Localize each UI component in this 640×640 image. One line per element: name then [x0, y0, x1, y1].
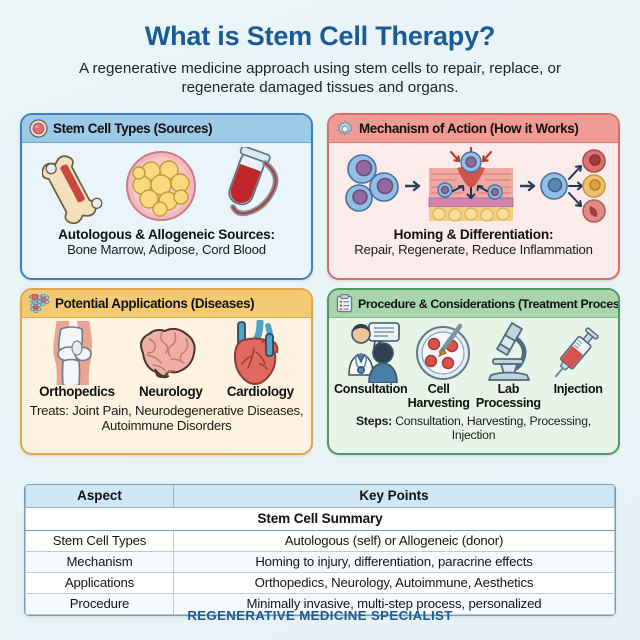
caption-strong-stem-cell-types: Autologous & Allogeneic Sources:: [58, 227, 275, 242]
caption-sub-mechanism: Repair, Regenerate, Reduce Inflammation: [354, 242, 593, 257]
panel-body-mechanism-of-action: Homing & Differentiation: Repair, Regene…: [329, 143, 618, 278]
panel-header-mechanism-of-action: Mechanism of Action (How it Works): [329, 115, 618, 143]
panel-title-stem-cell-types: Stem Cell Types (Sources): [53, 121, 212, 136]
arrow-right-icon-2: [520, 179, 537, 193]
table-body: Stem Cell Types Autologous (self) or All…: [26, 531, 615, 615]
brain-icon: [129, 323, 201, 383]
art-mechanism-of-action: [334, 145, 613, 227]
table-col-key-points: Key Points: [174, 485, 615, 508]
panel-header-stem-cell-types: Stem Cell Types (Sources): [22, 115, 311, 143]
table-title: Stem Cell Summary: [26, 508, 615, 531]
table-title-row: Stem Cell Summary: [26, 508, 615, 531]
panel-title-procedure-considerations: Procedure & Considerations (Treatment Pr…: [358, 297, 620, 311]
heart-icon: [226, 320, 288, 386]
bone-icon: [42, 148, 106, 224]
label-injection: Injection: [543, 383, 613, 397]
label-consultation: Consultation: [334, 383, 404, 397]
label-neurology: Neurology: [139, 385, 203, 400]
labels-procedure: Consultation Cell Harvesting Lab Process…: [334, 383, 613, 411]
caption-sub-applications: Treats: Joint Pain, Neurodegenerative Di…: [27, 403, 306, 434]
petri-dish-icon: [414, 322, 474, 382]
caption-sub-stem-cell-types: Bone Marrow, Adipose, Cord Blood: [67, 242, 266, 257]
cell-cluster-icon: [124, 149, 198, 223]
panel-header-potential-applications: Potential Applications (Diseases): [22, 290, 311, 318]
panel-procedure-considerations: Procedure & Considerations (Treatment Pr…: [327, 288, 620, 455]
infographic-page: What is Stem Cell Therapy? A regenerativ…: [0, 0, 640, 640]
page-subtitle: A regenerative medicine approach using s…: [0, 52, 640, 98]
stem-cells-icon: [342, 153, 402, 219]
panel-body-potential-applications: Orthopedics Neurology Cardiology Treats:…: [22, 318, 311, 453]
summary-table-wrapper: Stem Cell Summary Aspect Key Points Stem…: [24, 484, 616, 616]
cell-key-points: Autologous (self) or Allogeneic (donor): [174, 531, 615, 552]
label-orthopedics: Orthopedics: [39, 385, 115, 400]
cell-aspect: Applications: [26, 573, 174, 594]
footer-text: REGENERATIVE MEDICINE SPECIALIST: [0, 608, 640, 623]
blood-vial-cord-icon: [217, 147, 291, 225]
clipboard-icon: [336, 294, 353, 313]
label-cardiology: Cardiology: [227, 385, 294, 400]
table-col-aspect: Aspect: [26, 485, 174, 508]
cell-key-points: Homing to injury, differentiation, parac…: [174, 552, 615, 573]
panel-title-mechanism-of-action: Mechanism of Action (How it Works): [359, 121, 578, 136]
panels-grid: Stem Cell Types (Sources): [20, 113, 620, 455]
label-cell-harvesting: Cell Harvesting: [404, 383, 474, 411]
table-row: Stem Cell Types Autologous (self) or All…: [26, 531, 615, 552]
art-procedure-considerations: [334, 320, 613, 384]
caption-steps-label: Steps:: [356, 414, 392, 428]
caption-steps-procedure: Steps: Consultation, Harvesting, Process…: [334, 414, 613, 442]
panel-stem-cell-types: Stem Cell Types (Sources): [20, 113, 313, 280]
doctor-patient-icon: [343, 321, 407, 383]
caption-strong-mechanism: Homing & Differentiation:: [394, 227, 554, 242]
panel-body-procedure-considerations: Consultation Cell Harvesting Lab Process…: [329, 318, 618, 453]
syringe-icon: [546, 321, 604, 383]
cell-aspect: Stem Cell Types: [26, 531, 174, 552]
labels-potential-applications: Orthopedics Neurology Cardiology: [27, 385, 306, 400]
panel-mechanism-of-action: Mechanism of Action (How it Works): [327, 113, 620, 280]
table-header-row: Aspect Key Points: [26, 485, 615, 508]
cell-icon: [29, 119, 48, 138]
panel-header-procedure-considerations: Procedure & Considerations (Treatment Pr…: [329, 290, 618, 318]
caption-steps-value: Consultation, Harvesting, Processing, In…: [392, 414, 591, 442]
summary-table: Stem Cell Summary Aspect Key Points Stem…: [25, 485, 615, 615]
panel-title-potential-applications: Potential Applications (Diseases): [55, 296, 254, 311]
table-head: Aspect Key Points: [26, 485, 615, 508]
table-row: Applications Orthopedics, Neurology, Aut…: [26, 573, 615, 594]
knee-joint-icon: [45, 321, 105, 385]
differentiation-icon: [540, 148, 606, 224]
panel-body-stem-cell-types: Autologous & Allogeneic Sources: Bone Ma…: [22, 143, 311, 278]
table-row: Mechanism Homing to injury, differentiat…: [26, 552, 615, 573]
arrow-right-icon: [405, 179, 422, 193]
panel-potential-applications: Potential Applications (Diseases): [20, 288, 313, 455]
tissue-injury-icon: [425, 146, 517, 226]
cells-cluster-icon: [29, 294, 50, 313]
cell-key-points: Orthopedics, Neurology, Autoimmune, Aest…: [174, 573, 615, 594]
page-title: What is Stem Cell Therapy?: [0, 0, 640, 52]
microscope-icon: [481, 321, 539, 383]
gear-icon: [336, 120, 354, 138]
art-potential-applications: [27, 320, 306, 386]
art-stem-cell-types: [27, 145, 306, 227]
cell-aspect: Mechanism: [26, 552, 174, 573]
label-lab-processing: Lab Processing: [474, 383, 544, 411]
